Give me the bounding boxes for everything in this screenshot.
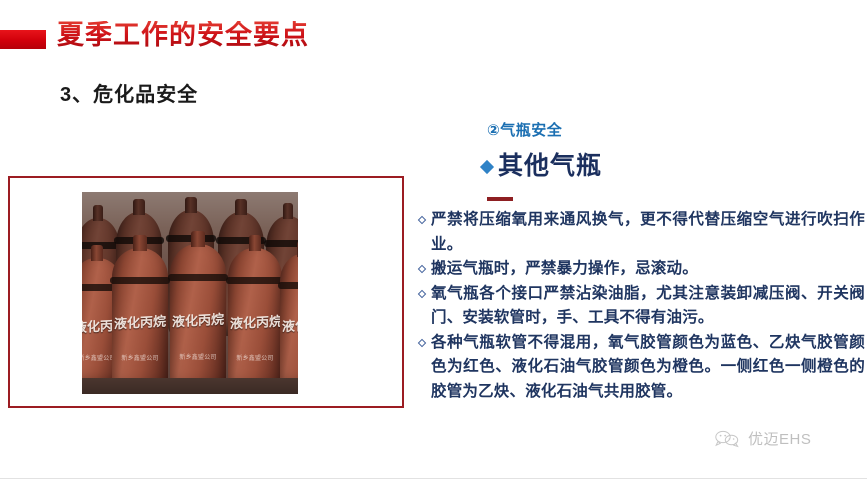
cylinder: 液化丙烷 新乡鑫盟公司 — [170, 244, 226, 394]
list-item: 搬运气瓶时，严禁暴力操作，忌滚动。 — [419, 257, 865, 282]
sub-heading: ②气瓶安全 — [487, 119, 562, 140]
list-item-text: 严禁将压缩氧用来通风换气，更不得代替压缩空气进行吹扫作业。 — [431, 211, 865, 253]
list-item: 严禁将压缩氧用来通风换气，更不得代替压缩空气进行吹扫作业。 — [419, 208, 865, 257]
diamond-heading: 其他气瓶 — [482, 154, 602, 179]
diamond-icon — [480, 159, 494, 173]
heading-underline — [487, 197, 513, 201]
list-item: 氧气瓶各个接口严禁沾染油脂，尤其注意装卸减压阀、开关阀门、安装软管时，手、工具不… — [419, 282, 865, 331]
list-item: 各种气瓶软管不得混用，氧气胶管颜色为蓝色、乙炔气胶管颜色为红色、液化石油气胶管颜… — [419, 331, 865, 405]
list-item-text: 各种气瓶软管不得混用，氧气胶管颜色为蓝色、乙炔气胶管颜色为红色、液化石油气胶管颜… — [431, 334, 865, 400]
bottom-divider — [0, 478, 867, 479]
page-title: 夏季工作的安全要点 — [57, 21, 309, 51]
watermark: 优迈EHS — [714, 428, 811, 449]
cylinder-mark-text: 液化丙烷 — [230, 311, 280, 333]
photo-floor — [82, 378, 298, 394]
cylinder-mark-text: 液化丙烷 — [114, 311, 166, 333]
hollow-diamond-bullet-icon — [418, 289, 426, 297]
list-item-text: 搬运气瓶时，严禁暴力操作，忌滚动。 — [431, 260, 698, 277]
cylinder-sub-text: 新乡鑫盟公司 — [230, 353, 280, 362]
cylinder-mark-text: 液化丙烷 — [282, 314, 298, 335]
cylinder-sub-text: 新乡鑫盟公司 — [114, 353, 166, 362]
bullet-list: 严禁将压缩氧用来通风换气，更不得代替压缩空气进行吹扫作业。 搬运气瓶时，严禁暴力… — [419, 208, 865, 404]
cylinder: 液化丙烷 新乡鑫盟公司 — [228, 248, 282, 394]
hollow-diamond-bullet-icon — [418, 338, 426, 346]
chat-bubble-icon — [714, 429, 742, 449]
photo-frame: 液化丙烷 新乡鑫盟公司 液化丙烷 新乡鑫盟公司 液化丙烷 新乡鑫盟公司 液化丙烷… — [8, 176, 404, 408]
list-item-text: 氧气瓶各个接口严禁沾染油脂，尤其注意装卸减压阀、开关阀门、安装软管时，手、工具不… — [431, 285, 865, 327]
hollow-diamond-bullet-icon — [418, 216, 426, 224]
diamond-heading-label: 其他气瓶 — [498, 154, 602, 179]
cylinder-mark-text: 液化丙烷 — [172, 309, 224, 331]
title-accent-bar — [0, 30, 46, 49]
cylinder-photo: 液化丙烷 新乡鑫盟公司 液化丙烷 新乡鑫盟公司 液化丙烷 新乡鑫盟公司 液化丙烷… — [82, 192, 298, 394]
watermark-label: 优迈EHS — [748, 428, 811, 449]
section-label: 3、危化品安全 — [60, 78, 198, 107]
hollow-diamond-bullet-icon — [418, 265, 426, 273]
cylinder-sub-text: 新乡鑫盟公司 — [172, 352, 224, 361]
cylinder: 液化丙烷 新乡鑫盟公司 — [112, 248, 168, 394]
cylinder: 液化丙烷 — [280, 254, 298, 392]
